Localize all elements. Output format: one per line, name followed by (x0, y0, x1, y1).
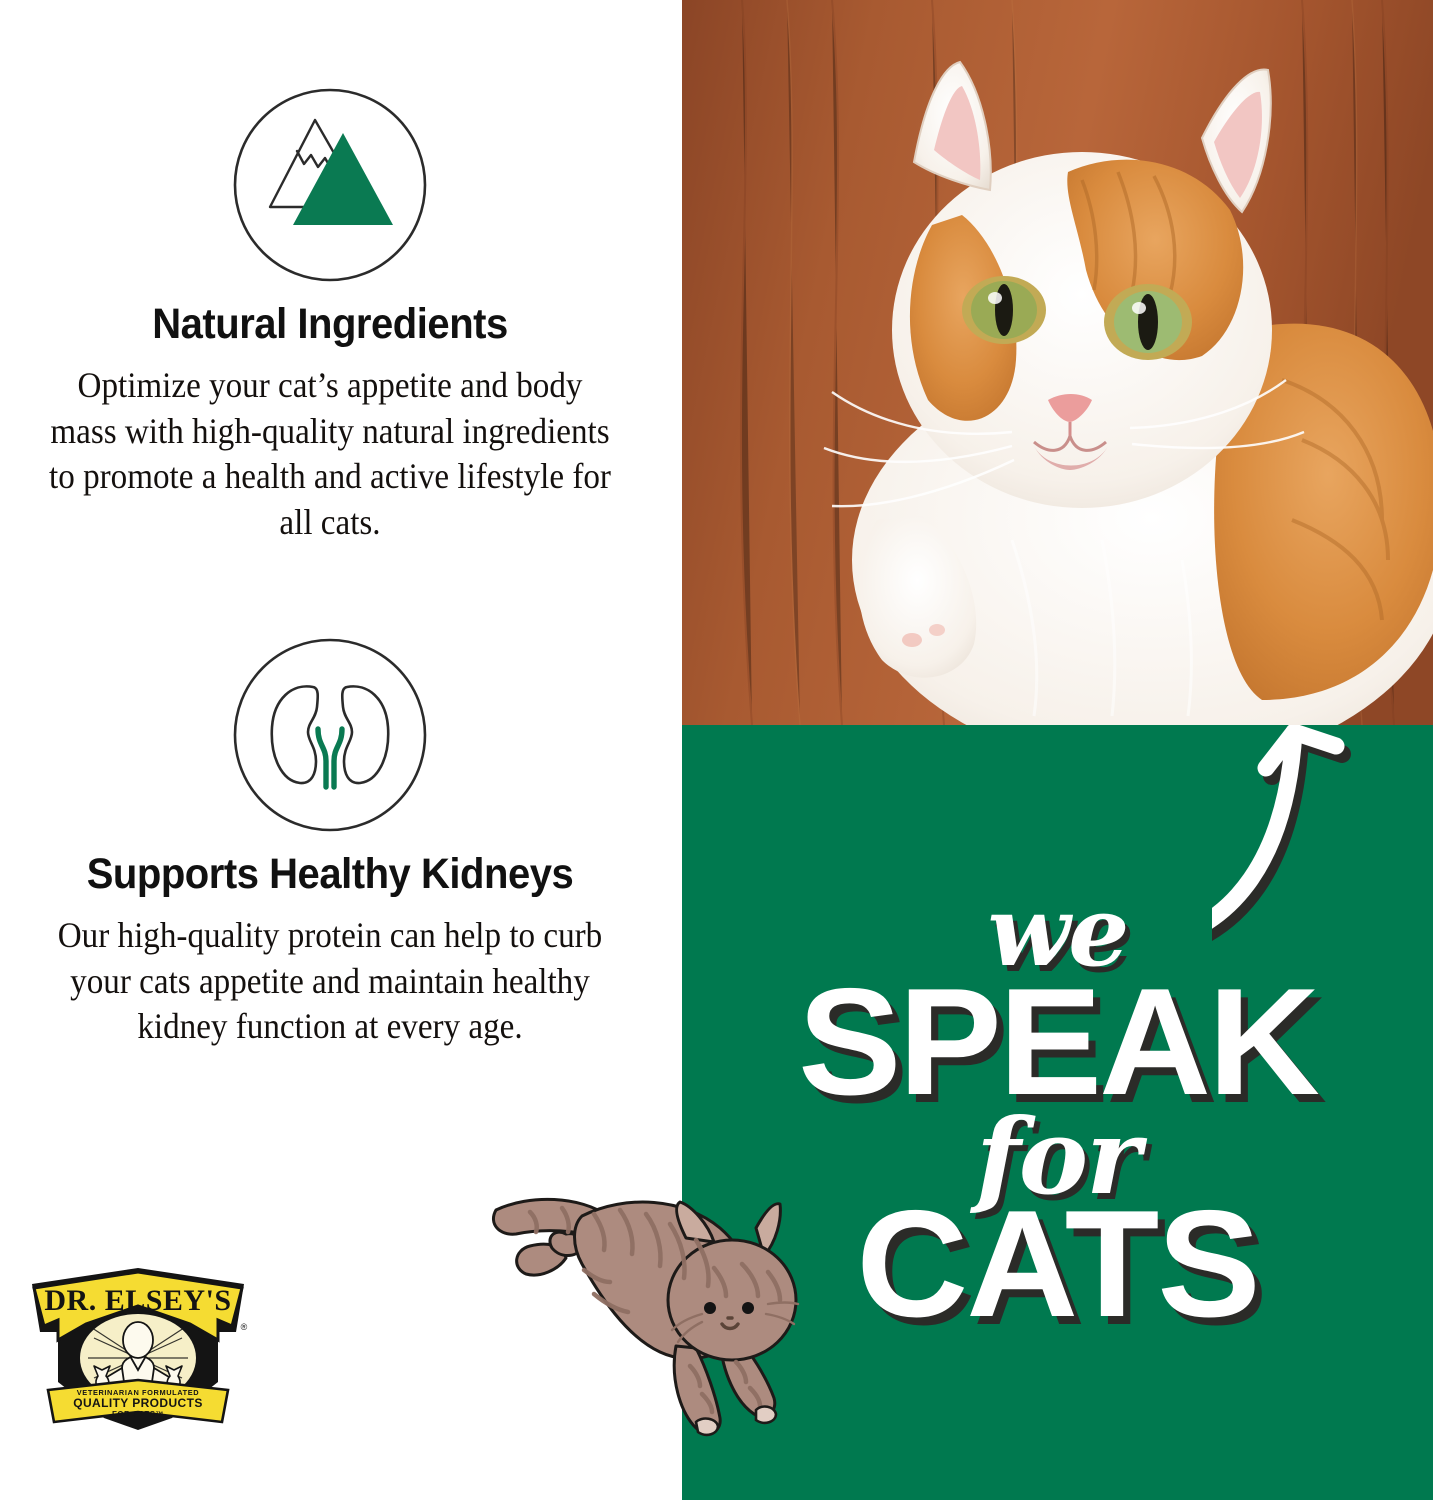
leaping-tabby-cat-illustration (470, 1172, 840, 1452)
mountain-icon (230, 85, 430, 285)
feature-heading: Supports Healthy Kidneys (23, 851, 637, 897)
logo-banner-line-3: FOR CATS™ (112, 1410, 164, 1419)
feature-heading: Natural Ingredients (23, 301, 637, 347)
feature-body-text: Our high-quality protein can help to cur… (45, 913, 615, 1049)
feature-block-healthy-kidneys: Supports Healthy Kidneys Our high-qualit… (0, 635, 660, 1050)
orange-white-cat-photo (682, 0, 1433, 725)
logo-brand-name: DR. ELSEY'S (44, 1284, 231, 1317)
feature-block-natural-ingredients: Natural Ingredients Optimize your cat’s … (0, 85, 660, 545)
logo-registered-mark: ® (241, 1322, 248, 1332)
dr-elseys-logo: DR. ELSEY'S ® (22, 1262, 254, 1437)
logo-banner-line-2: QUALITY PRODUCTS (73, 1396, 203, 1410)
feature-body-text: Optimize your cat’s appetite and body ma… (45, 363, 615, 544)
kidney-icon (230, 635, 430, 835)
